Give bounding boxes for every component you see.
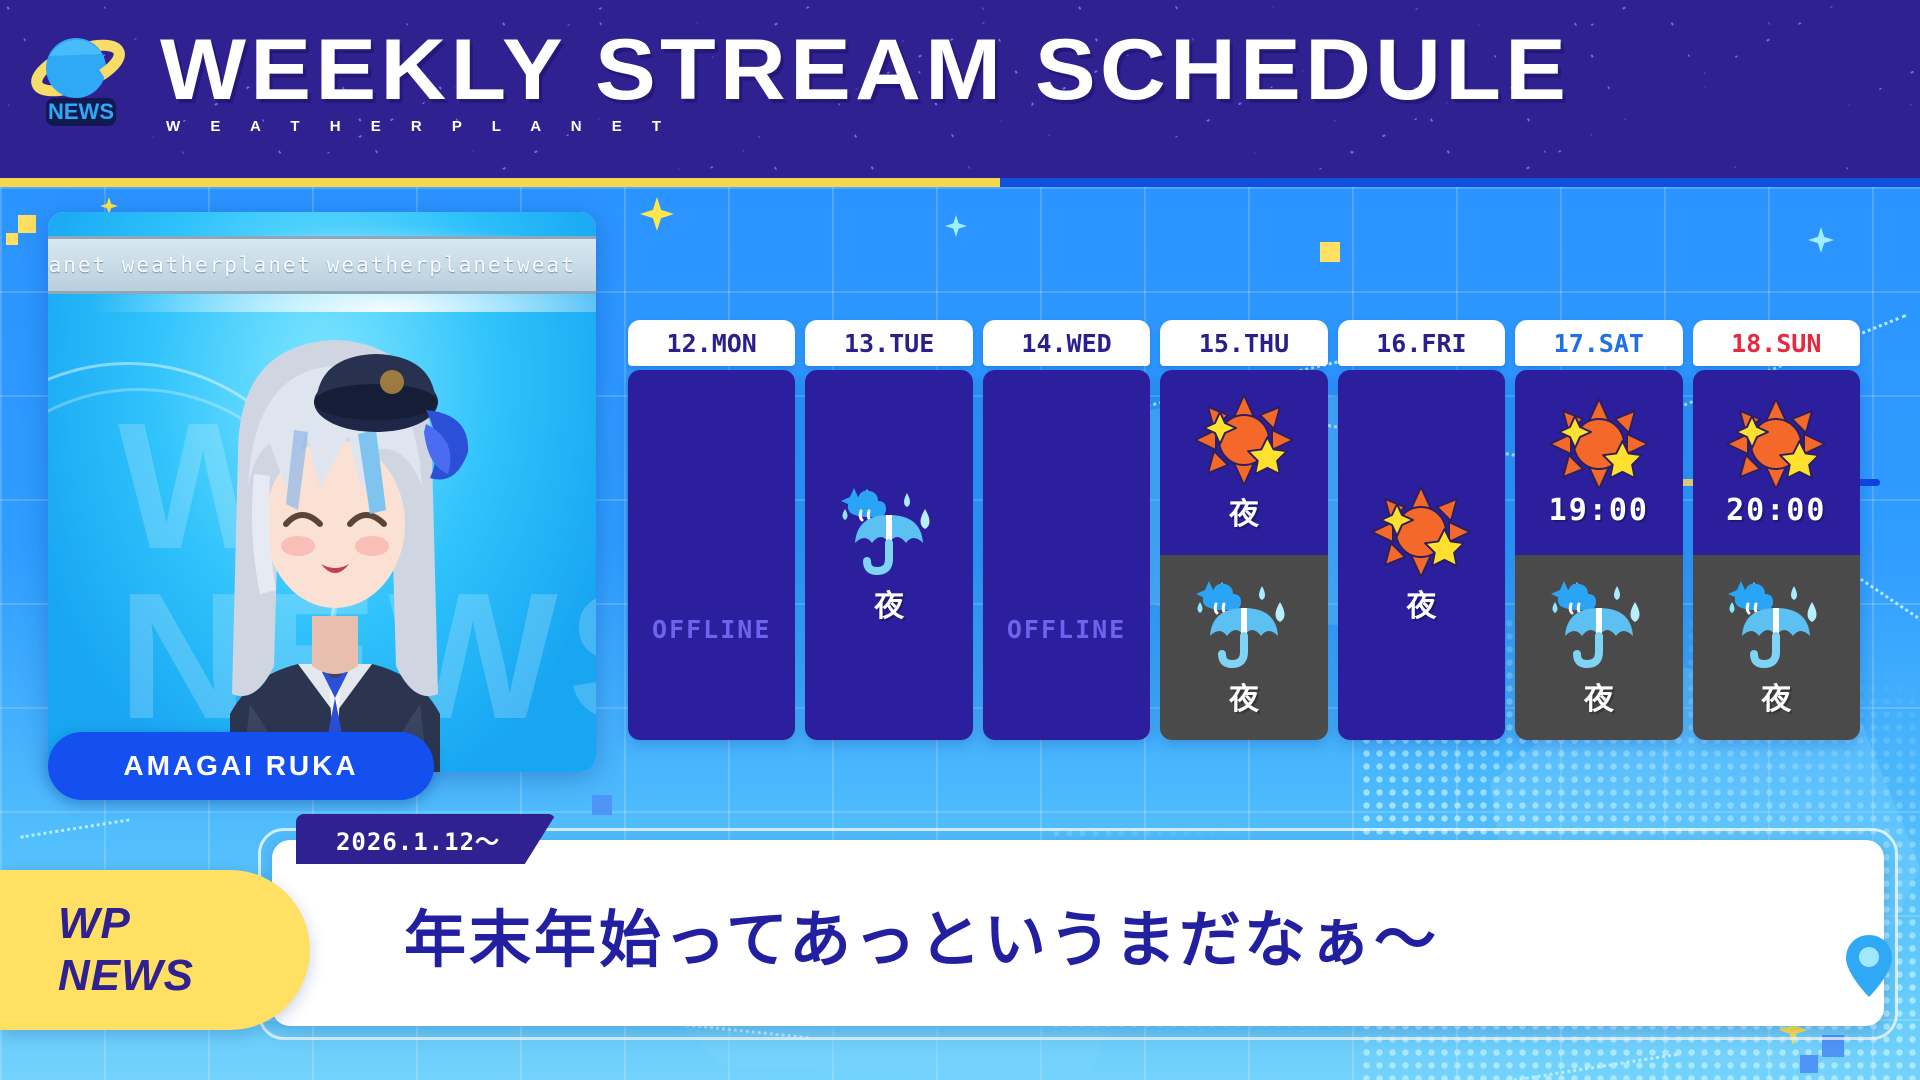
- svg-text:NEWS: NEWS: [48, 99, 114, 124]
- schedule-day-column[interactable]: 17.SAT 19:00 夜: [1515, 320, 1682, 740]
- schedule-day-body: OFFLINE: [983, 370, 1150, 740]
- weather-planet-logo: NEWS: [20, 20, 138, 132]
- slot-time-label: 20:00: [1726, 493, 1826, 528]
- talent-nameplate: AMAGAI RUKA: [48, 732, 434, 800]
- schedule-slot[interactable]: 夜: [1693, 555, 1860, 740]
- rain-umbrella-icon: [1724, 578, 1828, 670]
- wp-news-badge: WP NEWS: [0, 870, 310, 1030]
- sun-star-icon: [1547, 397, 1651, 489]
- slot-period-label: 夜: [1406, 581, 1436, 625]
- profile-marquee-strip: erplanet weatherplanet weatherplanetweat: [48, 236, 596, 294]
- sun-star-icon: [1547, 397, 1651, 489]
- page-title: WEEKLY STREAM SCHEDULE: [160, 22, 1920, 118]
- talent-name: AMAGAI RUKA: [123, 750, 358, 782]
- schedule-slot[interactable]: 19:00: [1515, 370, 1682, 555]
- schedule-day-column[interactable]: 16.FRI 夜: [1338, 320, 1505, 740]
- sun-star-icon: [1724, 397, 1828, 489]
- content-stage: WP NEWS: [0, 187, 1920, 1080]
- schedule-day-column[interactable]: 12.MONOFFLINE: [628, 320, 795, 740]
- date-range-tag: 2026.1.12〜: [296, 814, 556, 864]
- sun-star-icon: [1724, 397, 1828, 489]
- slot-period-label: 夜: [1584, 674, 1614, 718]
- slot-period-label: 夜: [874, 581, 904, 625]
- slot-time-label: 19:00: [1549, 493, 1649, 528]
- offline-label: OFFLINE: [652, 615, 771, 644]
- wp-news-line1: WP: [58, 898, 131, 950]
- date-range-text: 2026.1.12〜: [336, 822, 500, 857]
- slot-period-label: 夜: [1229, 674, 1259, 718]
- schedule-slot-offline[interactable]: OFFLINE: [983, 370, 1150, 740]
- schedule-day-body: 20:00 夜: [1693, 370, 1860, 740]
- wp-news-line2: NEWS: [58, 950, 194, 1002]
- schedule-day-column[interactable]: 14.WEDOFFLINE: [983, 320, 1150, 740]
- schedule-day-header: 14.WED: [983, 320, 1150, 366]
- sun-star-icon: [1192, 393, 1296, 485]
- schedule-day-header: 17.SAT: [1515, 320, 1682, 366]
- schedule-day-column[interactable]: 13.TUE 夜: [805, 320, 972, 740]
- schedule-slot[interactable]: 夜: [1515, 555, 1682, 740]
- schedule-day-header: 16.FRI: [1338, 320, 1505, 366]
- profile-marquee-text: erplanet weatherplanet weatherplanetweat: [48, 253, 576, 277]
- sun-star-icon: [1369, 485, 1473, 577]
- square-accent-1: [1320, 242, 1340, 262]
- square-accent-6: [1800, 1055, 1818, 1073]
- schedule-day-body: 夜: [1338, 370, 1505, 740]
- rain-umbrella-icon: [837, 485, 941, 577]
- schedule-day-body: OFFLINE: [628, 370, 795, 740]
- news-message: 年末年始ってあっというまだなぁ〜: [404, 886, 1844, 982]
- schedule-day-column[interactable]: 18.SUN 20:00 夜: [1693, 320, 1860, 740]
- character-portrait: [190, 274, 480, 772]
- schedule-day-body: 19:00 夜: [1515, 370, 1682, 740]
- header-blue-divider: [1000, 178, 1920, 187]
- sun-star-icon: [1369, 485, 1473, 577]
- schedule-slot[interactable]: 夜: [1338, 370, 1505, 740]
- schedule-day-body: 夜: [805, 370, 972, 740]
- schedule-day-header: 12.MON: [628, 320, 795, 366]
- slot-period-label: 夜: [1229, 489, 1259, 533]
- offline-label: OFFLINE: [1007, 615, 1126, 644]
- rain-umbrella-icon: [1547, 578, 1651, 670]
- schedule-slot[interactable]: 夜: [1160, 555, 1327, 740]
- rain-umbrella-icon: [1192, 578, 1296, 670]
- page-subtitle: W E A T H E R P L A N E T: [166, 118, 674, 135]
- rain-umbrella-icon: [1547, 578, 1651, 670]
- schedule-slot[interactable]: 夜: [805, 370, 972, 740]
- news-message-text: 年末年始ってあっというまだなぁ〜: [404, 889, 1439, 979]
- slot-period-label: 夜: [1761, 674, 1791, 718]
- rain-umbrella-icon: [1724, 578, 1828, 670]
- schedule-day-column[interactable]: 15.THU 夜 夜: [1160, 320, 1327, 740]
- schedule-day-header: 18.SUN: [1693, 320, 1860, 366]
- schedule-day-header: 13.TUE: [805, 320, 972, 366]
- square-accent-4: [592, 795, 612, 815]
- schedule-day-header: 15.THU: [1160, 320, 1327, 366]
- square-accent-3: [6, 233, 18, 245]
- rain-umbrella-icon: [1192, 578, 1296, 670]
- schedule-slot[interactable]: 夜: [1160, 370, 1327, 555]
- square-accent-2: [18, 215, 36, 233]
- sun-star-icon: [1192, 393, 1296, 485]
- map-pin-icon: [1846, 935, 1892, 997]
- rain-umbrella-icon: [837, 485, 941, 577]
- page-header: NEWS WEEKLY STREAM SCHEDULE W E A T H E …: [0, 0, 1920, 178]
- schedule-day-body: 夜 夜: [1160, 370, 1327, 740]
- schedule-slot[interactable]: 20:00: [1693, 370, 1860, 555]
- planet-icon: NEWS: [20, 20, 138, 132]
- talent-profile-card[interactable]: WP NEWS: [48, 212, 596, 772]
- schedule-slot-offline[interactable]: OFFLINE: [628, 370, 795, 740]
- weekly-schedule: 12.MONOFFLINE13.TUE 夜14.WEDOFFLINE15.THU…: [628, 320, 1860, 740]
